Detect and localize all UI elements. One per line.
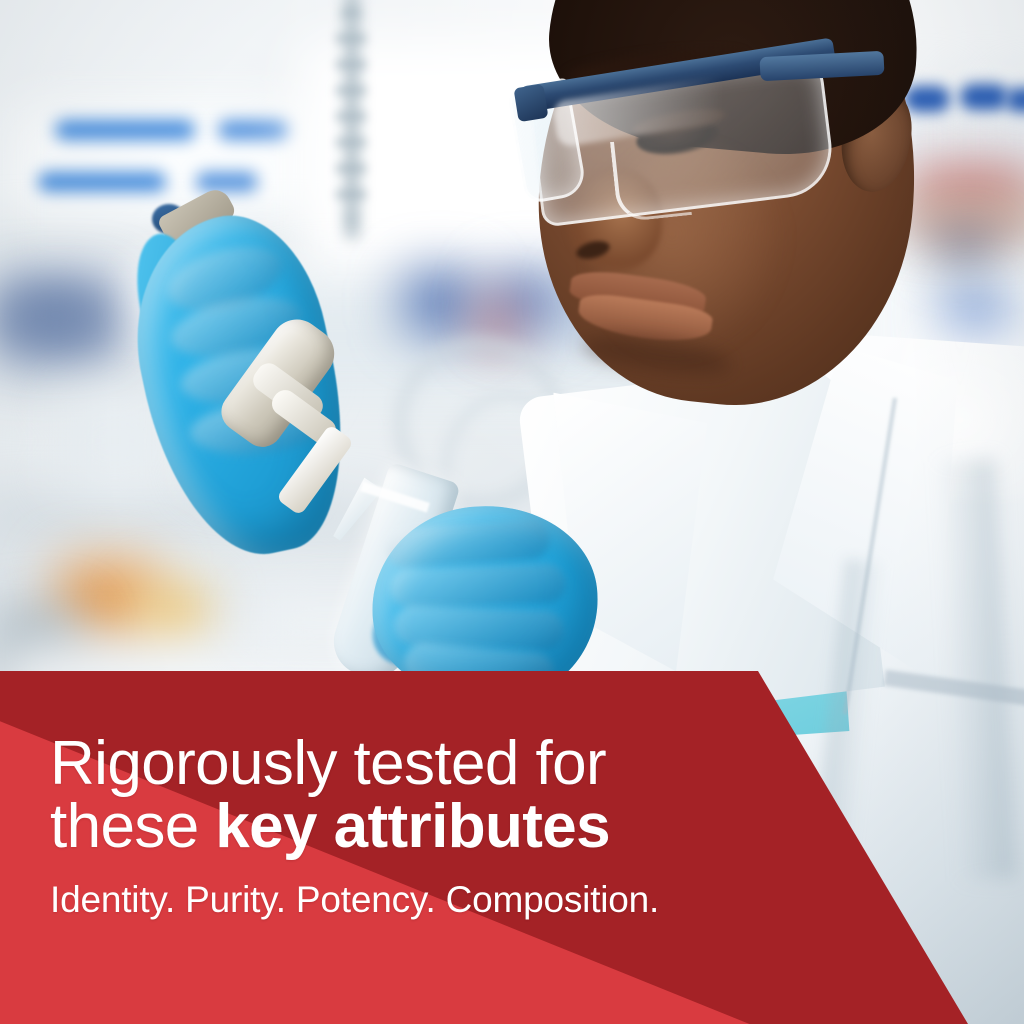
subline: Identity. Purity. Potency. Composition. [50, 880, 810, 921]
banner-text-block: Rigorously tested for these key attribut… [50, 732, 810, 921]
headline-line-2-bold: key attributes [215, 792, 610, 861]
headline-line-1: Rigorously tested for [50, 729, 606, 798]
headline-line-2-light: these [50, 792, 215, 861]
headline: Rigorously tested for these key attribut… [50, 732, 810, 858]
promo-graphic: Rigorously tested for these key attribut… [0, 0, 1024, 1024]
